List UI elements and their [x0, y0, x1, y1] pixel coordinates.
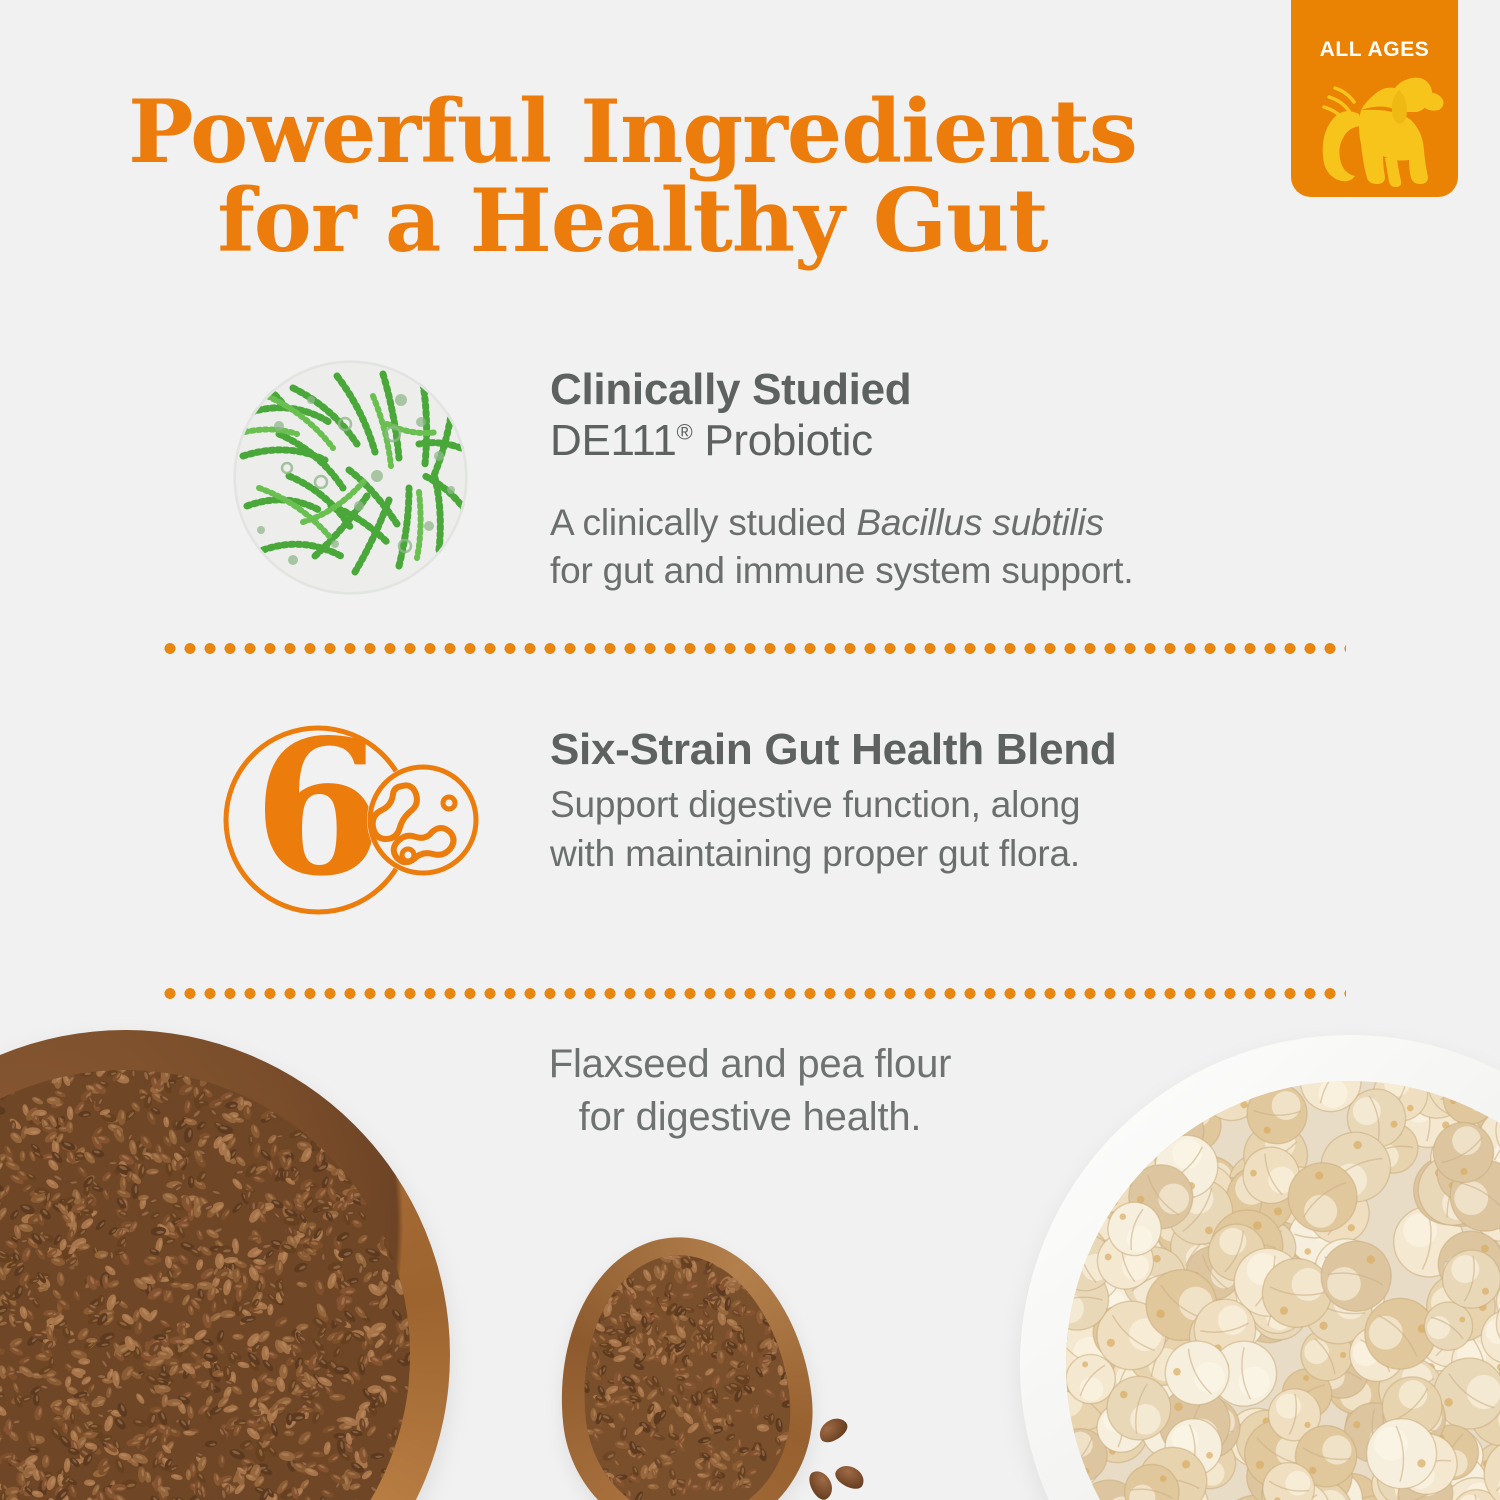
loose-flaxseed — [832, 1461, 868, 1493]
feature-row-probiotic: Clinically Studied DE111® Probiotic A cl… — [150, 360, 1133, 595]
feature-text-column: Six-Strain Gut Health Blend Support dige… — [550, 720, 1116, 878]
white-bowl-of-chickpeas — [1020, 1035, 1500, 1500]
product-name: DE111 — [550, 416, 677, 465]
title-line-1: Powerful Ingredients — [128, 80, 1137, 183]
feature-row-six-strain: 6 Six-Strain Gut Health Blend — [150, 720, 1116, 920]
product-type: Probiotic — [692, 416, 872, 465]
page-title: Powerful Ingredients for a Healthy Gut — [0, 88, 1265, 265]
feature-heading: Clinically Studied DE111® Probiotic — [550, 364, 1133, 467]
microscope-bacteria-circle-icon — [233, 360, 468, 595]
feature-body: Support digestive function, along with m… — [550, 781, 1116, 877]
feature-icon-column — [150, 360, 550, 595]
wooden-bowl-of-flaxseed — [0, 1030, 450, 1500]
infographic-panel: ALL AGES Powerful Ingredients fo — [0, 0, 1500, 1500]
sitting-dog-icon — [1299, 70, 1451, 192]
dotted-divider-1 — [160, 643, 1346, 654]
title-line-2: for a Healthy Gut — [0, 177, 1265, 266]
species-name: Bacillus subtilis — [856, 502, 1103, 543]
feature-heading-line-1: Clinically Studied — [550, 364, 1133, 415]
loose-flaxseed — [815, 1414, 851, 1447]
feature-body-line-2: with maintaining proper gut flora. — [550, 830, 1116, 878]
feature-heading-line-2: DE111® Probiotic — [550, 415, 1133, 466]
feature-body-line-2: for gut and immune system support. — [550, 547, 1133, 595]
loose-flaxseed — [805, 1467, 836, 1500]
registered-mark: ® — [677, 420, 693, 445]
six-strain-bacteria-icon: 6 — [218, 720, 483, 920]
feature-body-lead: A clinically studied — [550, 502, 856, 543]
badge-label: ALL AGES — [1291, 38, 1458, 62]
feature-heading-line-1: Six-Strain Gut Health Blend — [550, 724, 1116, 775]
feature-body: A clinically studied Bacillus subtilis f… — [550, 499, 1133, 595]
feature-text-column: Clinically Studied DE111® Probiotic A cl… — [550, 360, 1133, 595]
wooden-spoon-of-flaxseed — [545, 1225, 825, 1500]
feature-icon-column: 6 — [150, 720, 550, 920]
feature-body-line-1: Support digestive function, along — [550, 781, 1116, 829]
feature-heading: Six-Strain Gut Health Blend — [550, 724, 1116, 775]
six-numeral: 6 — [253, 720, 382, 917]
ingredient-photo-band — [0, 1005, 1500, 1500]
all-ages-badge: ALL AGES — [1291, 0, 1458, 197]
dotted-divider-2 — [160, 988, 1346, 999]
